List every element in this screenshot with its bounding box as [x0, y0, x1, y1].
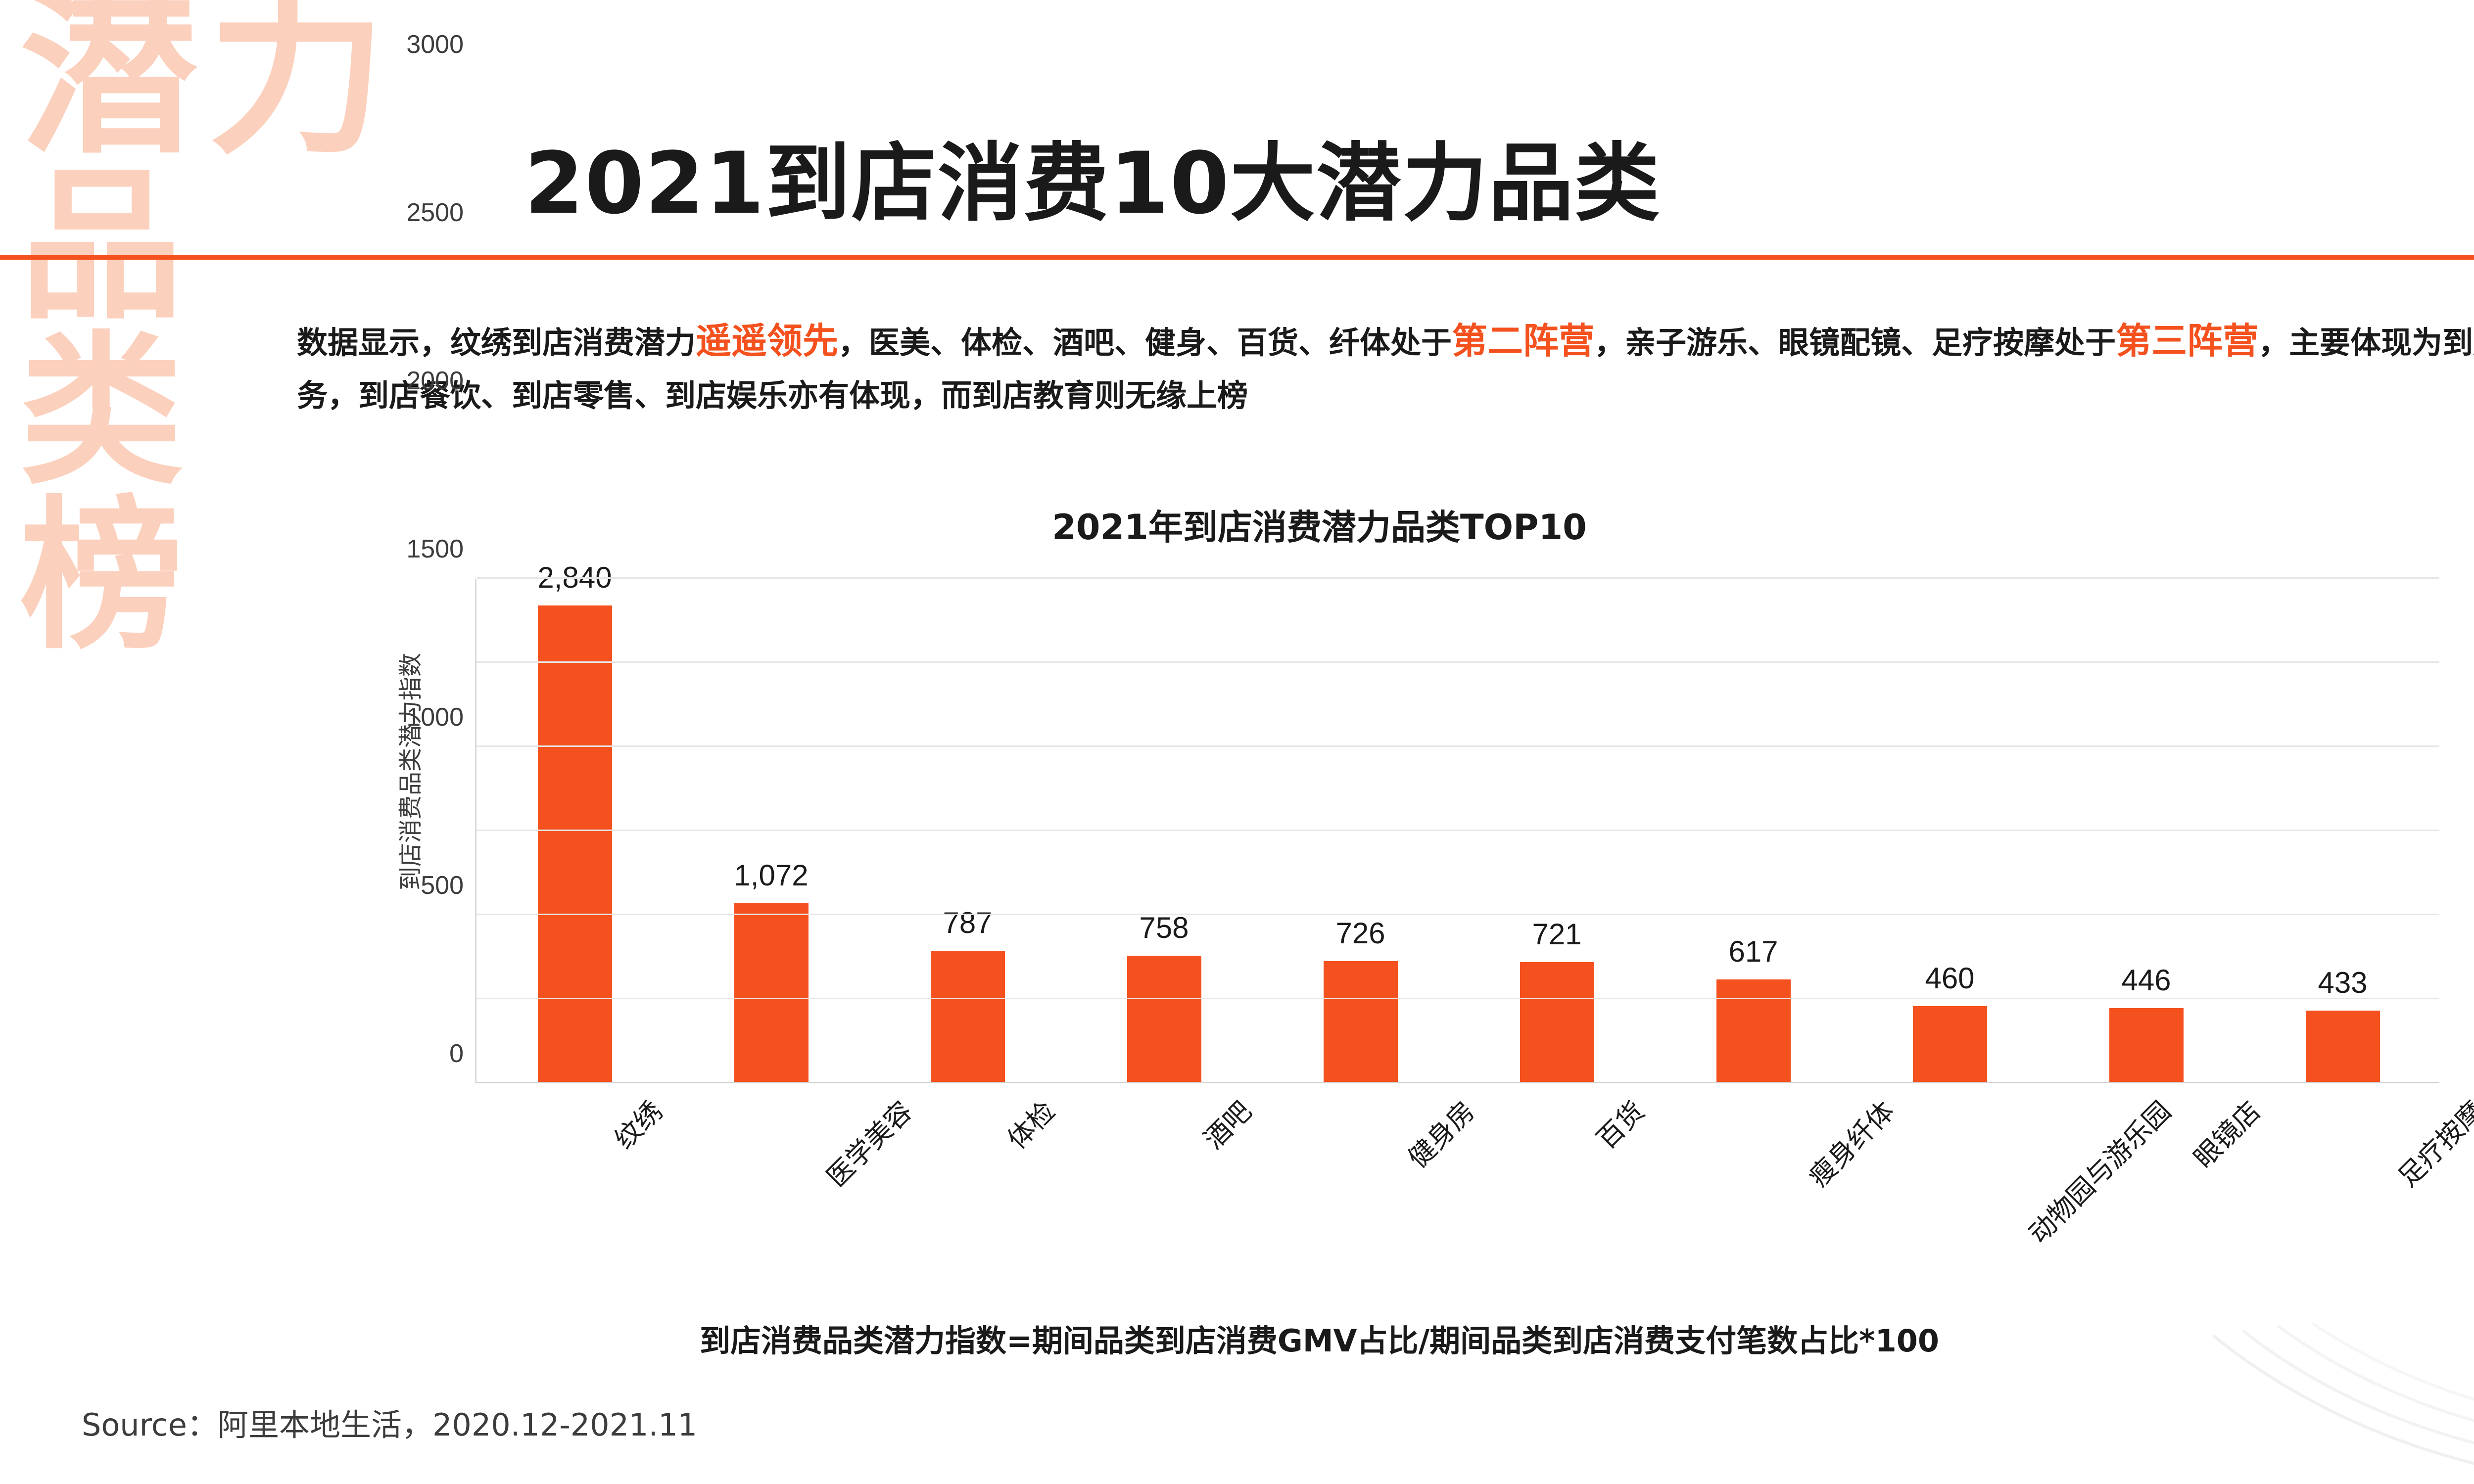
y-tick-2000: 2000	[406, 366, 464, 396]
bar-value-label: 758	[1139, 911, 1189, 945]
header-divider	[0, 255, 2474, 260]
bar[interactable]	[1520, 962, 1594, 1083]
gridline-1000: 1000	[476, 914, 2439, 915]
watermark-line-1: 潜力	[20, 0, 490, 159]
description-segment-5: 足疗按摩处于	[1932, 325, 2116, 361]
description-segment-1: 遥遥领先	[696, 320, 838, 362]
plot-area: 2,8401,072787758726721617460446433 05001…	[475, 579, 2439, 1083]
page-title: 2021到店消费10大潜力品类	[524, 114, 1661, 237]
description-segment-4: ，亲子游乐、眼镜配镜、	[1594, 325, 1932, 361]
bar-slot: 2,840	[476, 579, 673, 1083]
gridline-2500: 2500	[476, 661, 2439, 663]
bar-value-label: 617	[1728, 934, 1778, 969]
description-paragraph: 数据显示，纹绣到店消费潜力遥遥领先，医美、体检、酒吧、健身、百货、纤体处于第二阵…	[297, 312, 2474, 421]
bar[interactable]	[1716, 979, 1791, 1083]
bar[interactable]	[1127, 956, 1201, 1083]
bar-slot: 721	[1459, 579, 1655, 1083]
bar-value-label: 1,072	[734, 858, 808, 892]
bar-slot: 726	[1262, 579, 1459, 1083]
bar-value-label: 721	[1532, 917, 1581, 951]
bar-slot: 1,072	[673, 579, 869, 1083]
description-segment-2: ，医美、体检、酒吧、健身、百货、纤体处于	[838, 325, 1452, 361]
gridline-2000: 2000	[476, 745, 2439, 747]
y-tick-3000: 3000	[406, 30, 464, 59]
bar[interactable]	[2306, 1011, 2380, 1083]
bar-chart: 到店消费品类潜力指数 2,8401,0727877587267216174604…	[317, 559, 2474, 1291]
description-segment-6: 第三阵营	[2116, 320, 2258, 362]
gridline-1500: 1500	[476, 830, 2439, 831]
source-note: Source：阿里本地生活，2020.12-2021.11	[82, 1400, 697, 1444]
bar-slot: 758	[1066, 579, 1262, 1083]
corner-decoration	[2094, 1276, 2474, 1484]
gridline-500: 500	[476, 998, 2439, 999]
bar[interactable]	[538, 605, 612, 1083]
formula-note: 到店消费品类潜力指数=期间品类到店消费GMV占比/期间品类到店消费支付笔数占比*…	[0, 1316, 2474, 1360]
bar-value-label: 433	[2318, 966, 2367, 1000]
x-tick-label: 健身房	[1397, 1091, 1481, 1175]
bar-slot: 617	[1655, 579, 1852, 1083]
gridline-0: 0	[476, 1082, 2439, 1083]
chart-title: 2021年到店消费潜力品类TOP10	[0, 500, 2474, 550]
bar-slot: 446	[2048, 579, 2244, 1083]
description-segment-0: 数据显示，纹绣到店消费潜力	[297, 325, 696, 361]
bar[interactable]	[2109, 1008, 2184, 1083]
bar-slot: 460	[1852, 579, 2048, 1083]
bar-series: 2,8401,072787758726721617460446433	[476, 579, 2439, 1083]
x-tick-label: 足疗按摩	[2387, 1091, 2474, 1194]
bar[interactable]	[931, 951, 1005, 1083]
bar-slot: 787	[869, 579, 1066, 1083]
y-tick-0: 0	[449, 1039, 464, 1068]
bar-value-label: 787	[943, 906, 992, 940]
x-tick-label: 瘦身纤体	[1798, 1091, 1902, 1194]
bar-value-label: 460	[1925, 961, 1974, 995]
x-tick-label: 动物园与游乐园	[2018, 1091, 2178, 1251]
y-tick-500: 500	[421, 871, 464, 900]
x-tick-label: 体检	[997, 1091, 1062, 1156]
x-tick-label: 百货	[1586, 1091, 1651, 1156]
watermark-line-2: 品	[20, 169, 490, 325]
x-tick-label: 眼镜店	[2183, 1091, 2267, 1175]
y-tick-1500: 1500	[406, 534, 464, 564]
bar-slot: 433	[2244, 579, 2441, 1083]
y-tick-1000: 1000	[406, 702, 464, 732]
x-tick-label: 医学美容	[816, 1091, 919, 1194]
bar[interactable]	[1324, 961, 1398, 1083]
bar-value-label: 726	[1335, 916, 1385, 950]
description-segment-3: 第二阵营	[1452, 320, 1594, 362]
bar[interactable]	[1913, 1006, 1987, 1083]
bar-value-label: 446	[2121, 963, 2171, 997]
y-tick-2500: 2500	[406, 198, 464, 228]
x-tick-label: 纹绣	[604, 1091, 669, 1156]
gridline-3000: 3000	[476, 577, 2439, 579]
bar[interactable]	[734, 903, 809, 1083]
x-tick-label: 酒吧	[1193, 1091, 1258, 1156]
